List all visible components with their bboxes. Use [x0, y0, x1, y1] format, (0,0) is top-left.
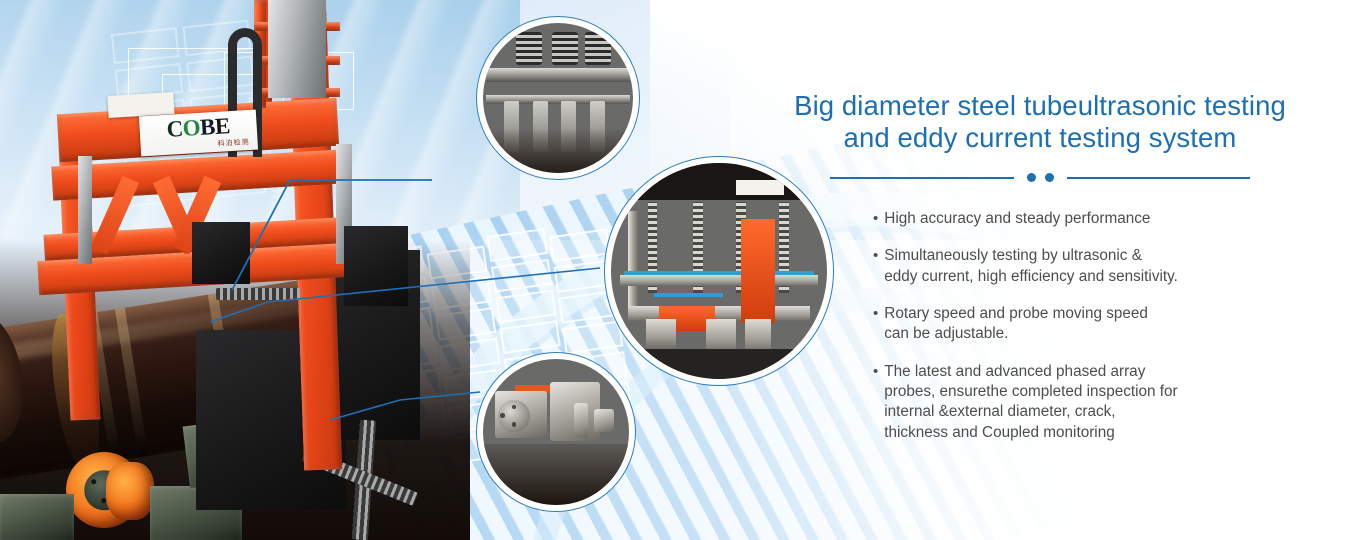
- cobe-logo-plate: COBE 科泊检测: [139, 110, 258, 157]
- feature-bullet: •Simultaneously testing by ultrasonic & …: [873, 246, 1320, 287]
- control-box: [192, 222, 250, 284]
- background-rect: [491, 259, 552, 293]
- bullet-marker-icon: •: [873, 246, 878, 287]
- divider-line-right: [1067, 177, 1251, 179]
- background-rect: [500, 320, 561, 354]
- tube-roller-secondary: [106, 462, 154, 520]
- support-block: [0, 494, 74, 540]
- feature-bullet-text: Rotary speed and probe moving speed can …: [884, 304, 1148, 345]
- logo-letter-o: O: [182, 116, 201, 140]
- logo-subtext: 科泊检测: [217, 137, 250, 149]
- inset-circle-bottom: [476, 352, 636, 512]
- inset-photo-probe-head-assembly: [483, 23, 633, 173]
- bullet-marker-icon: •: [873, 304, 878, 345]
- divider-line-left: [830, 177, 1014, 179]
- feature-bullet-text: The latest and advanced phased array pro…: [884, 362, 1177, 443]
- inset-photo-probe-clamp-detail: [483, 359, 629, 505]
- logo-letter-b: B: [199, 115, 215, 139]
- bullet-marker-icon: •: [873, 209, 878, 229]
- feature-bullet: •The latest and advanced phased array pr…: [873, 362, 1320, 443]
- probe-manifold: [216, 288, 300, 300]
- linear-rail: [78, 156, 92, 264]
- tower-panel: [268, 0, 326, 98]
- feature-bullet-text: Simultaneously testing by ultrasonic & e…: [884, 246, 1178, 287]
- divider-dots: [1014, 173, 1067, 182]
- cobe-logo-text: COBE: [166, 114, 230, 141]
- product-banner: COBE 科泊检测: [0, 0, 1350, 540]
- background-rect: [495, 290, 556, 324]
- logo-letter-e: E: [214, 114, 230, 138]
- background-rect: [549, 228, 610, 262]
- feature-bullet: •High accuracy and steady performance: [873, 209, 1320, 229]
- inset-circle-top: [476, 16, 640, 180]
- feature-bullet: •Rotary speed and probe moving speed can…: [873, 304, 1320, 345]
- probe-carriage: [344, 226, 408, 306]
- logo-letter-c: C: [166, 117, 183, 141]
- machine-photo: COBE 科泊检测: [0, 0, 470, 540]
- divider-dot: [1045, 173, 1054, 182]
- text-panel: Big diameter steel tubeultrasonic testin…: [760, 90, 1320, 460]
- feature-bullet-list: •High accuracy and steady performance•Si…: [760, 209, 1320, 443]
- feature-bullet-text: High accuracy and steady performance: [884, 209, 1150, 229]
- divider-dot: [1027, 173, 1036, 182]
- title-divider: [830, 171, 1250, 185]
- banner-title: Big diameter steel tubeultrasonic testin…: [760, 90, 1320, 155]
- bullet-marker-icon: •: [873, 362, 878, 443]
